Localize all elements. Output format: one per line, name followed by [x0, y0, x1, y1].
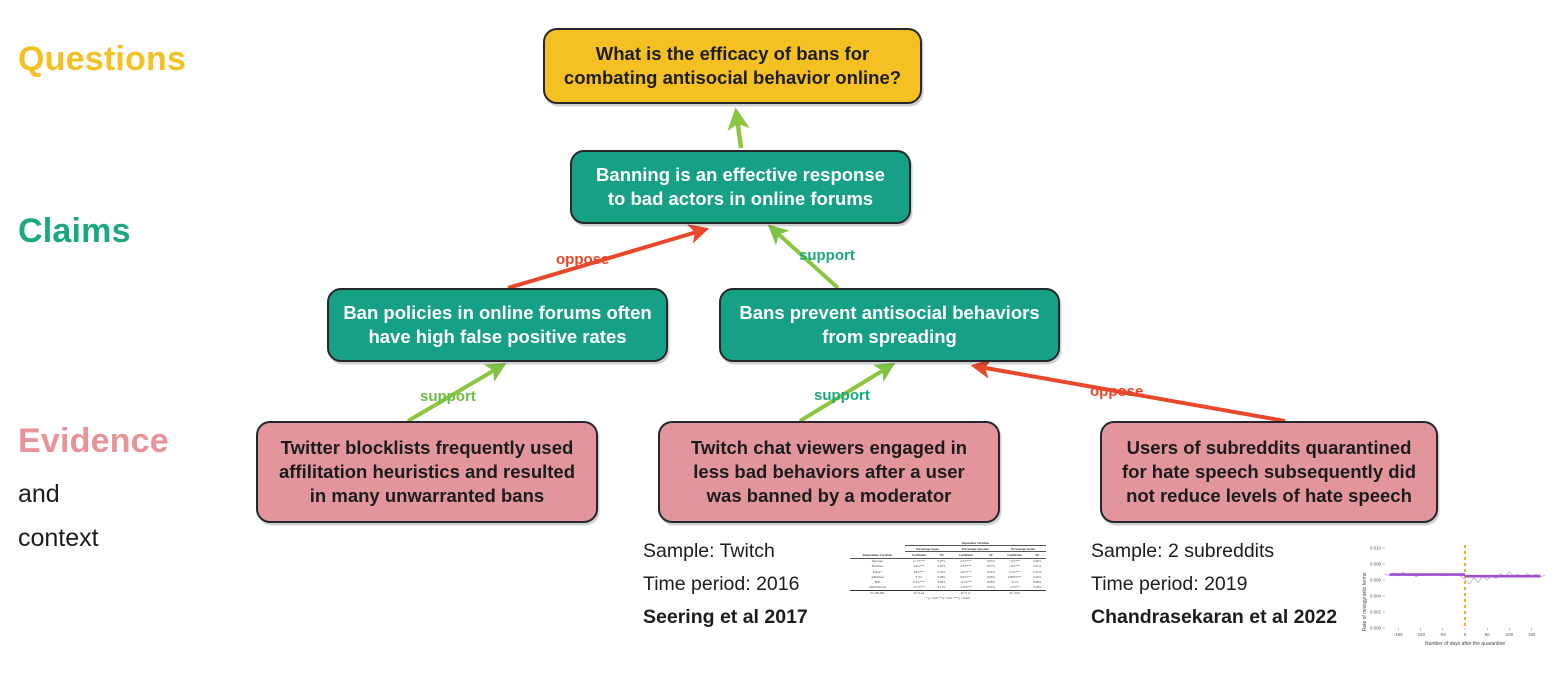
chart-y-tick-label: 0.000	[1370, 626, 1382, 631]
metadata-twitch-time-period: Time period: 2016	[643, 573, 808, 596]
argument-diagram: Questions Claims Evidence and context Wh…	[0, 0, 1555, 684]
evidence-node-reddit[interactable]: Users of subreddits quarantined for hate…	[1100, 421, 1438, 523]
edge-label-support-twitch: support	[814, 387, 870, 404]
chart-y-tick-label: 0.006	[1370, 578, 1382, 583]
chart-y-tick-label: 0.008	[1370, 562, 1382, 567]
tier-label-claims: Claims	[18, 212, 131, 251]
edge-label-support-top: support	[799, 247, 855, 264]
chart-x-tick-label: 0	[1464, 632, 1467, 637]
metadata-twitch-sample: Sample: Twitch	[643, 540, 808, 563]
tier-label-evidence-sub2: context	[18, 524, 99, 553]
chart-y-tick-label: 0.002	[1370, 610, 1382, 615]
metadata-reddit-time-period: Time period: 2019	[1091, 573, 1337, 596]
chart-x-tick-label: -100	[1416, 632, 1425, 637]
claim-node-spreading[interactable]: Bans prevent antisocial behaviors from s…	[719, 288, 1060, 362]
regression-table-note: * p < 0.05 ** p < 0.01 *** p < 0.001	[850, 596, 1046, 600]
tier-label-questions: Questions	[18, 40, 186, 79]
chart-x-axis-label: Number of days after the quarantine	[1425, 641, 1505, 647]
chart-x-tick-label: 150	[1528, 632, 1536, 637]
quarantine-chart: 0.0000.0020.0040.0060.0080.010 -150-100-…	[1355, 540, 1551, 650]
chart-y-tick-label: 0.004	[1370, 594, 1382, 599]
chart-y-axis-label: Rate of misogynistic terms	[1362, 572, 1368, 631]
quarantine-chart-thumbnail[interactable]: 0.0000.0020.0040.0060.0080.010 -150-100-…	[1355, 540, 1551, 650]
edge-claim-to-question	[737, 118, 741, 148]
chart-x-tick-label: 100	[1506, 632, 1514, 637]
metadata-reddit: Sample: 2 subreddits Time period: 2019 C…	[1091, 540, 1337, 629]
question-node[interactable]: What is the efficacy of bans for combati…	[543, 28, 922, 104]
metadata-reddit-sample: Sample: 2 subreddits	[1091, 540, 1337, 563]
claim-node-main[interactable]: Banning is an effective response to bad …	[570, 150, 911, 224]
evidence-node-twitter[interactable]: Twitter blocklists frequently used affil…	[256, 421, 598, 523]
metadata-reddit-citation: Chandrasekaran et al 2022	[1091, 606, 1337, 629]
chart-y-ticks: 0.0000.0020.0040.0060.0080.010	[1370, 546, 1385, 631]
metadata-twitch: Sample: Twitch Time period: 2016 Seering…	[643, 540, 808, 629]
tier-label-evidence-sub1: and	[18, 480, 60, 509]
chart-x-tick-label: 50	[1485, 632, 1490, 637]
edge-label-oppose-reddit: oppose	[1090, 383, 1143, 400]
regression-table-thumbnail[interactable]: Dependent VariablesPercentage SpamPercen…	[850, 540, 1046, 628]
chart-x-ticks: -150-100-50050100150	[1394, 628, 1536, 637]
edge-label-support-twitter: support	[420, 388, 476, 405]
chart-x-tick-label: -50	[1440, 632, 1447, 637]
regression-table: Dependent VariablesPercentage SpamPercen…	[850, 540, 1046, 596]
claim-node-false-positive[interactable]: Ban policies in online forums often have…	[327, 288, 668, 362]
chart-y-tick-label: 0.010	[1370, 546, 1382, 551]
chart-x-tick-label: -150	[1394, 632, 1403, 637]
edge-label-oppose-top: oppose	[556, 251, 609, 268]
tier-label-evidence: Evidence	[18, 422, 169, 461]
evidence-node-twitch[interactable]: Twitch chat viewers engaged in less bad …	[658, 421, 1000, 523]
metadata-twitch-citation: Seering et al 2017	[643, 606, 808, 629]
